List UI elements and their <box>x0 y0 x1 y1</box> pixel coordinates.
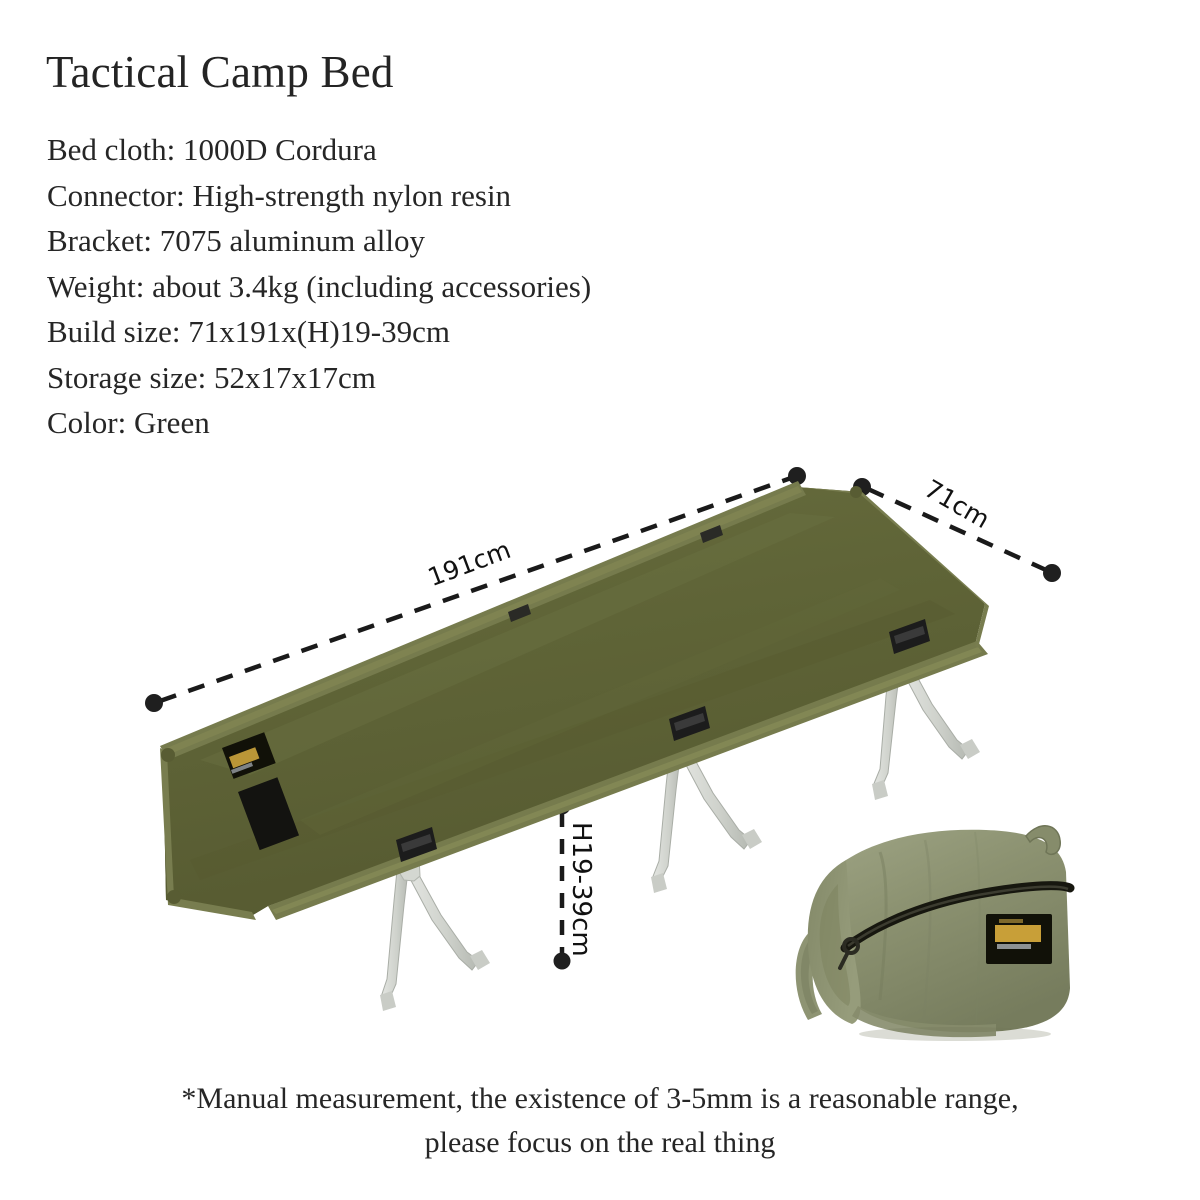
spec-line-storage-size: Storage size: 52x17x17cm <box>47 355 947 401</box>
dimension-label-width: 71cm <box>920 474 995 534</box>
page-title: Tactical Camp Bed <box>46 46 394 98</box>
spec-line-bracket: Bracket: 7075 aluminum alloy <box>47 218 947 264</box>
spec-list: Bed cloth: 1000D Cordura Connector: High… <box>47 127 947 446</box>
bag-brand-patch <box>986 914 1052 964</box>
spec-line-build-size: Build size: 71x191x(H)19-39cm <box>47 309 947 355</box>
bag-end-cap <box>808 860 861 1024</box>
footer-note: *Manual measurement, the existence of 3-… <box>0 1077 1200 1165</box>
footer-line-2: please focus on the real thing <box>0 1121 1200 1165</box>
bed-corner-cap-left-b <box>167 890 181 904</box>
bed-corner-cap-right <box>850 486 862 498</box>
dimension-endpoint-width-right <box>1043 564 1061 582</box>
bag-body <box>840 830 1070 1032</box>
bed-edge-top <box>160 481 806 760</box>
bag-strap-left <box>796 930 826 1020</box>
bed-connector-buckles <box>396 619 930 862</box>
bag-strap-bottom <box>852 1006 996 1037</box>
bed-buckle-1 <box>396 827 437 862</box>
spec-line-color: Color: Green <box>47 400 947 446</box>
bed-edge-left <box>160 748 256 920</box>
dimension-endpoint-height-top <box>554 798 571 815</box>
footer-line-1: *Manual measurement, the existence of 3-… <box>0 1077 1200 1121</box>
product-spec-page: Tactical Camp Bed Bed cloth: 1000D Cordu… <box>0 0 1200 1200</box>
spec-line-bed-cloth: Bed cloth: 1000D Cordura <box>47 127 947 173</box>
dimension-endpoint-length-right <box>788 467 806 485</box>
bed-leg-2 <box>651 735 762 893</box>
bed-leg-3 <box>872 648 980 800</box>
dimension-endpoint-width-left <box>853 478 871 496</box>
dimension-label-length: 191cm <box>424 535 515 592</box>
bed-edge-tab-1 <box>508 604 531 622</box>
storage-bag <box>796 826 1070 1041</box>
spec-line-connector: Connector: High-strength nylon resin <box>47 173 947 219</box>
bed-buckle-2 <box>669 706 710 741</box>
bed-legs <box>380 648 980 1011</box>
bag-zipper <box>845 886 1070 948</box>
bag-zipper-pull <box>840 939 858 968</box>
bed-brand-patch <box>222 732 276 779</box>
bed-buckle-3 <box>889 619 930 654</box>
bed-leg-1 <box>380 856 490 1011</box>
dimension-lines <box>145 467 1061 970</box>
bed-corner-cap-left <box>161 748 175 762</box>
spec-line-weight: Weight: about 3.4kg (including accessori… <box>47 264 947 310</box>
dimension-label-height: H19-39cm <box>566 822 596 957</box>
dimension-line-length <box>160 478 791 701</box>
bag-handle <box>1026 826 1060 855</box>
bed-edge-bottom <box>268 641 988 920</box>
bed-velcro-strap <box>238 777 299 850</box>
dimension-endpoint-length-left <box>145 694 163 712</box>
bed-edge-tab-2 <box>700 525 723 543</box>
